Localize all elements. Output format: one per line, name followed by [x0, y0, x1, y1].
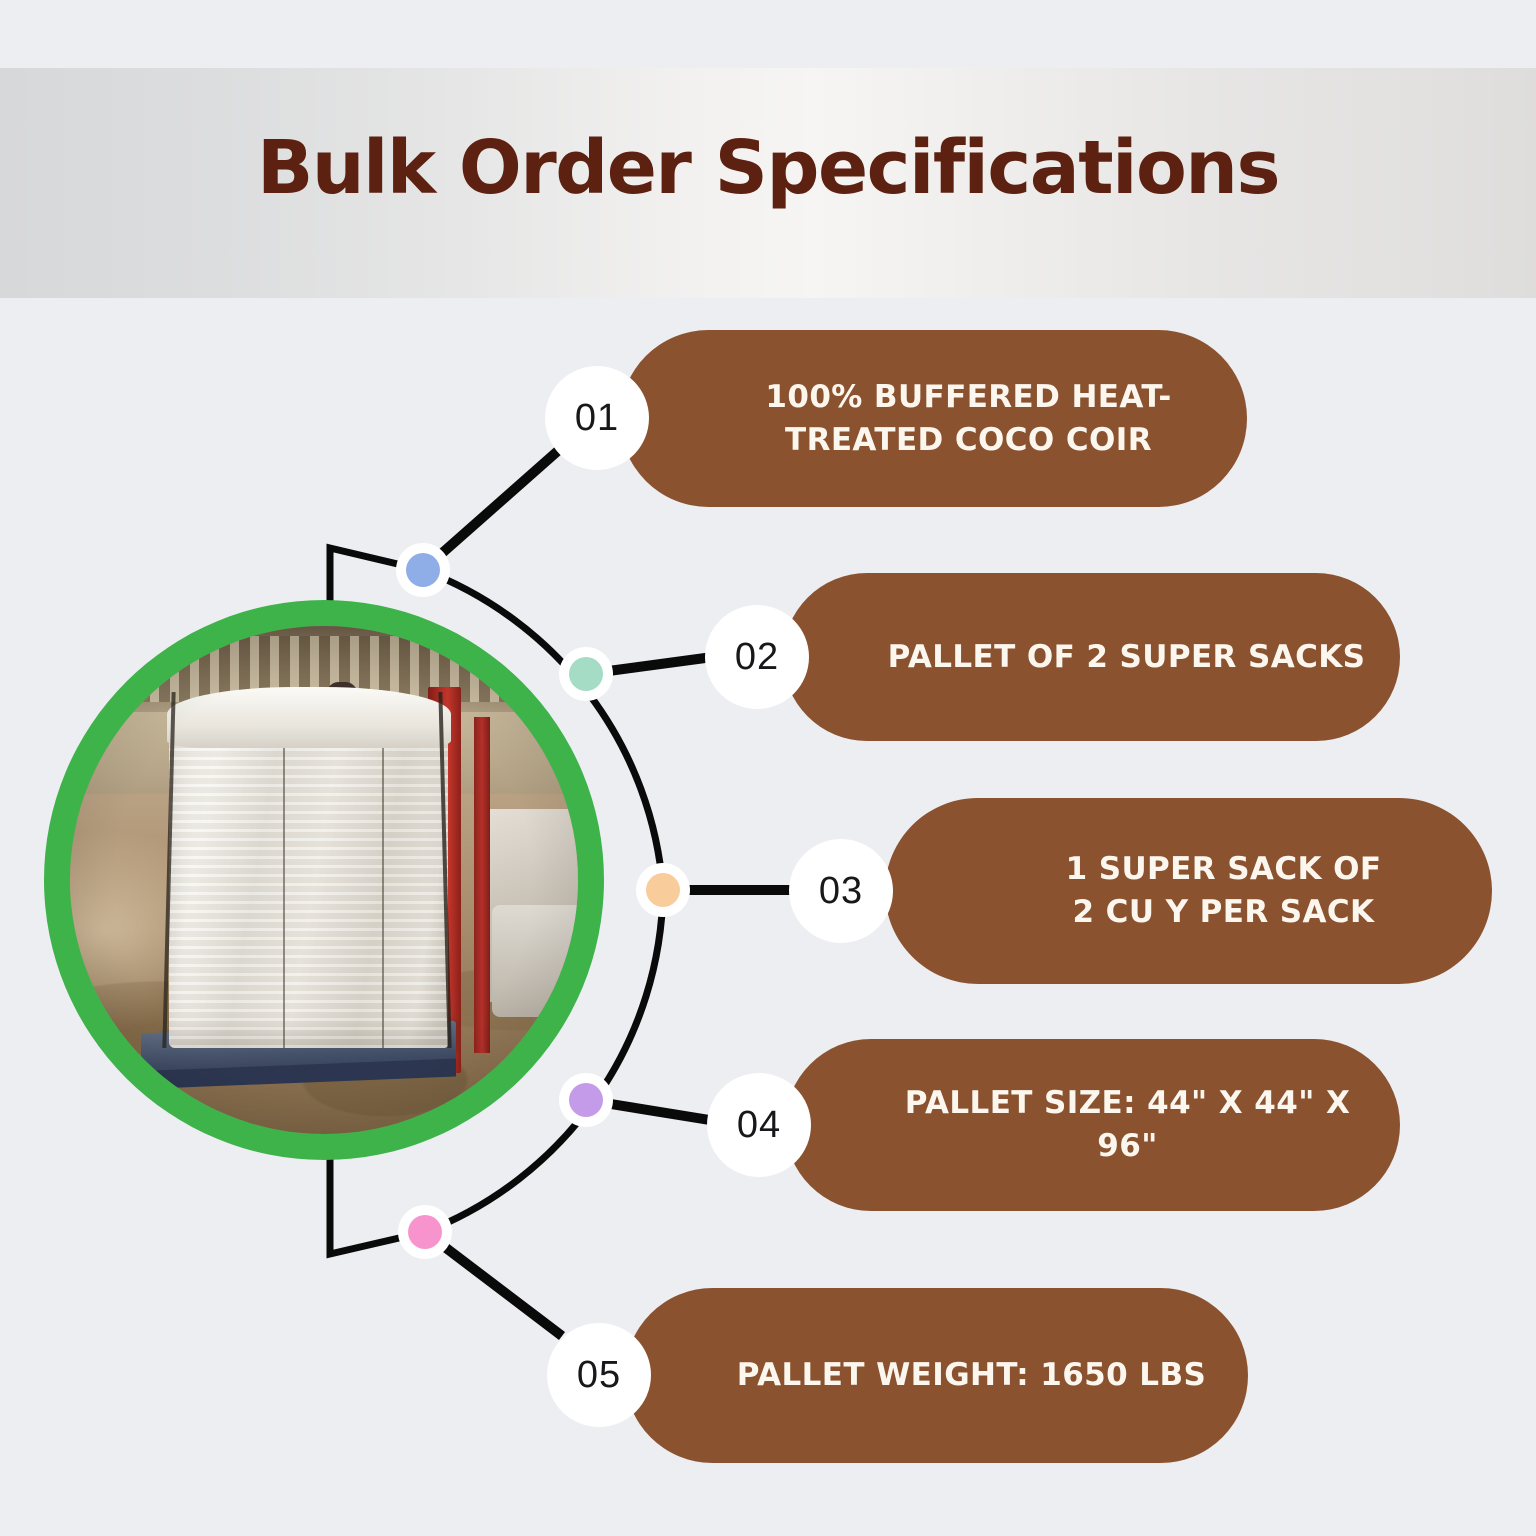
spec-pill-04[interactable]: PALLET SIZE: 44" X 44" X 96": [785, 1039, 1400, 1211]
spec-pill-02-text: PALLET OF 2 SUPER SACKS: [783, 636, 1400, 679]
spec-badge-01[interactable]: 01: [545, 366, 649, 470]
spec-badge-05-label: 05: [577, 1354, 621, 1397]
spec-pill-03[interactable]: 1 SUPER SACK OF 2 CU Y PER SACK: [885, 798, 1492, 984]
spec-badge-01-label: 01: [575, 397, 619, 440]
spec-pill-01[interactable]: 100% BUFFERED HEAT- TREATED COCO COIR: [620, 330, 1247, 507]
spec-badge-02[interactable]: 02: [705, 605, 809, 709]
photo-vignette: [70, 626, 578, 1134]
spec-pill-05[interactable]: PALLET WEIGHT: 1650 LBS: [625, 1288, 1248, 1463]
spec-badge-04[interactable]: 04: [707, 1073, 811, 1177]
product-photo-circle: [44, 600, 604, 1160]
infographic-page: Bulk Order Specifications: [0, 0, 1536, 1536]
connector-dot-pink: [398, 1205, 452, 1259]
spec-pill-04-text: PALLET SIZE: 44" X 44" X 96": [785, 1082, 1400, 1168]
spec-pill-02[interactable]: PALLET OF 2 SUPER SACKS: [783, 573, 1400, 741]
spec-pill-03-text: 1 SUPER SACK OF 2 CU Y PER SACK: [885, 848, 1492, 934]
spec-pill-01-text: 100% BUFFERED HEAT- TREATED COCO COIR: [620, 376, 1247, 462]
spoke-02: [586, 656, 720, 674]
spoke-04: [586, 1100, 722, 1122]
spec-badge-03[interactable]: 03: [789, 839, 893, 943]
product-photo: [70, 626, 578, 1134]
spec-pill-05-text: PALLET WEIGHT: 1650 LBS: [625, 1354, 1248, 1397]
spec-badge-04-label: 04: [737, 1104, 781, 1147]
spec-badge-05[interactable]: 05: [547, 1323, 651, 1427]
connector-dot-peach: [636, 863, 690, 917]
connector-dot-blue: [396, 543, 450, 597]
spoke-01: [423, 449, 560, 570]
spec-badge-03-label: 03: [819, 870, 863, 913]
page-title: Bulk Order Specifications: [0, 125, 1536, 211]
spec-badge-02-label: 02: [735, 636, 779, 679]
spoke-05: [425, 1232, 562, 1336]
